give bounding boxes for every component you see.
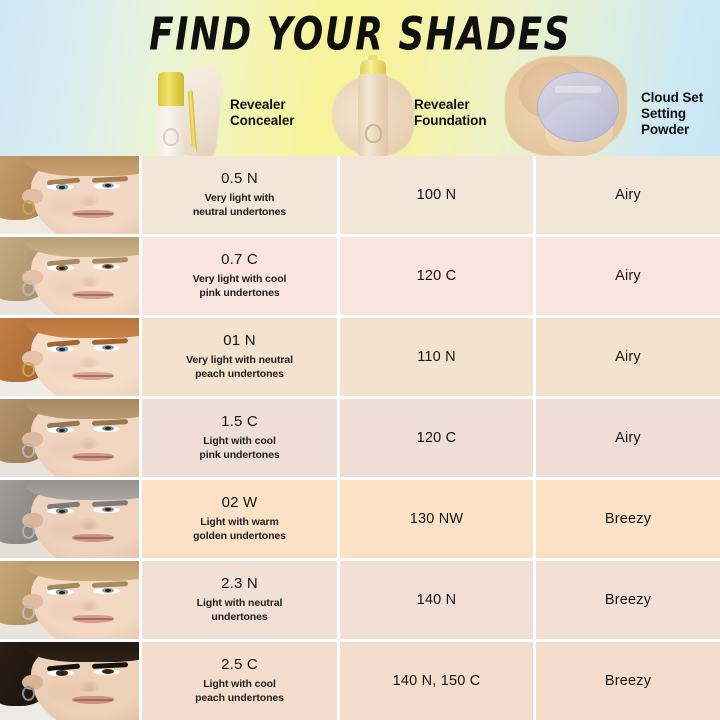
eye-right bbox=[93, 345, 119, 351]
product-label-concealer-line2: Concealer bbox=[230, 113, 294, 129]
foundation-shade-name: 140 N, 150 C bbox=[393, 673, 481, 689]
product-label-foundation-line2: Foundation bbox=[414, 113, 486, 129]
powder-cell: Airy bbox=[536, 237, 720, 315]
concealer-logo-mark bbox=[163, 128, 179, 146]
model-portrait-7 bbox=[0, 642, 142, 720]
iris-right bbox=[102, 588, 114, 593]
foundation-shade-name: 100 N bbox=[417, 187, 457, 203]
concealer-desc-line1: Very light with bbox=[193, 192, 286, 206]
powder-shade-name: Airy bbox=[615, 268, 641, 284]
concealer-desc-line2: neutral undertones bbox=[193, 206, 286, 220]
product-label-foundation: Revealer Foundation bbox=[414, 97, 486, 129]
concealer-desc-line2: pink undertones bbox=[199, 449, 279, 463]
concealer-shade-name: 02 W bbox=[222, 494, 258, 512]
portrait-art bbox=[0, 237, 139, 315]
concealer-cell: 0.7 C Very light with cool pink underton… bbox=[142, 237, 340, 315]
concealer-cell: 02 W Light with warm golden undertones bbox=[142, 480, 340, 558]
iris-left bbox=[56, 346, 68, 351]
product-label-concealer: Revealer Concealer bbox=[230, 97, 294, 129]
iris-left bbox=[56, 265, 68, 270]
iris-right bbox=[102, 264, 114, 269]
eye-right bbox=[93, 669, 119, 675]
concealer-desc-line1: Light with warm bbox=[193, 516, 286, 530]
table-row: 0.5 N Very light with neutral undertones… bbox=[0, 156, 720, 237]
pupil-right bbox=[105, 508, 111, 511]
concealer-shade-description: Light with neutral undertones bbox=[197, 597, 283, 624]
powder-cell: Breezy bbox=[536, 480, 720, 558]
lip-line bbox=[74, 375, 113, 377]
iris-right bbox=[102, 426, 114, 431]
foundation-bottle-body bbox=[358, 74, 388, 156]
nose bbox=[78, 436, 100, 448]
powder-cell: Airy bbox=[536, 156, 720, 234]
concealer-desc-line1: Light with neutral bbox=[197, 597, 283, 611]
lip-line bbox=[74, 699, 113, 701]
concealer-desc-line1: Light with cool bbox=[199, 435, 279, 449]
nose bbox=[78, 193, 100, 205]
foundation-bottle-icon bbox=[330, 58, 416, 156]
portrait-art bbox=[0, 561, 139, 639]
lip-line bbox=[74, 456, 113, 458]
model-portrait-6 bbox=[0, 561, 142, 639]
eye-right bbox=[93, 426, 119, 432]
iris-right bbox=[102, 183, 114, 188]
lip-line bbox=[74, 294, 113, 296]
powder-cell: Breezy bbox=[536, 561, 720, 639]
foundation-shade-name: 140 N bbox=[417, 592, 457, 608]
portrait-art bbox=[0, 399, 139, 477]
concealer-desc-line2: peach undertones bbox=[186, 368, 293, 382]
earring bbox=[22, 443, 35, 458]
earring bbox=[22, 362, 35, 377]
product-label-powder: Cloud Set Setting Powder bbox=[641, 90, 703, 139]
pupil-left bbox=[59, 348, 65, 351]
foundation-logo-mark bbox=[365, 124, 382, 143]
eye-right bbox=[93, 588, 119, 594]
product-label-powder-line1: Cloud Set bbox=[641, 90, 703, 106]
pupil-right bbox=[105, 427, 111, 430]
portrait-art bbox=[0, 480, 139, 558]
concealer-desc-line1: Very light with neutral bbox=[186, 354, 293, 368]
pupil-left bbox=[59, 267, 65, 270]
concealer-desc-line1: Light with cool bbox=[195, 678, 284, 692]
iris-right bbox=[102, 507, 114, 512]
model-portrait-4 bbox=[0, 399, 142, 477]
lip-line bbox=[74, 537, 113, 539]
earring bbox=[22, 686, 35, 701]
foundation-cell: 130 NW bbox=[340, 480, 536, 558]
concealer-tube-icon bbox=[150, 62, 230, 156]
pupil-right bbox=[105, 589, 111, 592]
concealer-cell: 01 N Very light with neutral peach under… bbox=[142, 318, 340, 396]
foundation-cell: 120 C bbox=[340, 237, 536, 315]
pupil-left bbox=[59, 510, 65, 513]
concealer-cell: 2.3 N Light with neutral undertones bbox=[142, 561, 340, 639]
concealer-desc-line2: pink undertones bbox=[193, 287, 287, 301]
nose bbox=[78, 598, 100, 610]
concealer-shade-name: 0.7 C bbox=[221, 251, 258, 269]
nose bbox=[78, 355, 100, 367]
foundation-shade-name: 110 N bbox=[417, 349, 456, 365]
concealer-shade-description: Light with warm golden undertones bbox=[193, 516, 286, 543]
iris-left bbox=[56, 184, 68, 189]
powder-shade-name: Airy bbox=[615, 430, 641, 446]
concealer-shade-description: Light with cool peach undertones bbox=[195, 678, 284, 705]
iris-right bbox=[102, 345, 114, 350]
shade-finder-page: FIND YOUR SHADES Revealer Concealer Reve… bbox=[0, 0, 720, 720]
pupil-right bbox=[105, 184, 111, 187]
product-label-powder-line3: Powder bbox=[641, 122, 703, 138]
shade-match-table: 0.5 N Very light with neutral undertones… bbox=[0, 156, 720, 720]
concealer-shade-description: Very light with neutral peach undertones bbox=[186, 354, 293, 381]
lip-line bbox=[74, 213, 113, 215]
product-label-concealer-line1: Revealer bbox=[230, 97, 294, 113]
powder-lid bbox=[537, 72, 619, 142]
pupil-left bbox=[59, 186, 65, 189]
eye-right bbox=[93, 183, 119, 189]
concealer-desc-line2: undertones bbox=[197, 611, 283, 625]
table-row: 2.3 N Light with neutral undertones 140 … bbox=[0, 561, 720, 642]
powder-shade-name: Airy bbox=[615, 349, 641, 365]
concealer-cell: 0.5 N Very light with neutral undertones bbox=[142, 156, 340, 234]
pupil-right bbox=[105, 670, 111, 673]
foundation-cell: 110 N bbox=[340, 318, 536, 396]
portrait-art bbox=[0, 642, 139, 720]
powder-cell: Airy bbox=[536, 318, 720, 396]
powder-brand-mark bbox=[555, 86, 601, 93]
earring bbox=[22, 200, 35, 215]
foundation-cell: 120 C bbox=[340, 399, 536, 477]
concealer-shade-name: 2.5 C bbox=[221, 656, 258, 674]
table-row: 02 W Light with warm golden undertones 1… bbox=[0, 480, 720, 561]
iris-right bbox=[102, 669, 114, 674]
concealer-cell: 2.5 C Light with cool peach undertones bbox=[142, 642, 340, 720]
foundation-cell: 100 N bbox=[340, 156, 536, 234]
concealer-desc-line2: peach undertones bbox=[195, 692, 284, 706]
product-label-foundation-line1: Revealer bbox=[414, 97, 486, 113]
foundation-shade-name: 120 C bbox=[417, 430, 457, 446]
powder-shade-name: Breezy bbox=[605, 511, 651, 527]
model-portrait-3 bbox=[0, 318, 142, 396]
foundation-cell: 140 N bbox=[340, 561, 536, 639]
concealer-shade-name: 1.5 C bbox=[221, 413, 258, 431]
foundation-cell: 140 N, 150 C bbox=[340, 642, 536, 720]
product-label-powder-line2: Setting bbox=[641, 106, 703, 122]
concealer-shade-name: 0.5 N bbox=[221, 170, 258, 188]
iris-left bbox=[56, 427, 68, 432]
concealer-shade-description: Very light with cool pink undertones bbox=[193, 273, 287, 300]
powder-cell: Breezy bbox=[536, 642, 720, 720]
model-portrait-5 bbox=[0, 480, 142, 558]
earring bbox=[22, 605, 35, 620]
earring bbox=[22, 524, 35, 539]
lip-line bbox=[74, 618, 113, 620]
header-banner: FIND YOUR SHADES Revealer Concealer Reve… bbox=[0, 0, 720, 156]
model-portrait-2 bbox=[0, 237, 142, 315]
pupil-left bbox=[59, 672, 65, 675]
pupil-right bbox=[105, 265, 111, 268]
iris-left bbox=[56, 589, 68, 594]
page-title: FIND YOUR SHADES bbox=[11, 8, 709, 60]
earring bbox=[22, 281, 35, 296]
table-row: 1.5 C Light with cool pink undertones 12… bbox=[0, 399, 720, 480]
foundation-shade-name: 120 C bbox=[417, 268, 457, 284]
concealer-desc-line1: Very light with cool bbox=[193, 273, 287, 287]
concealer-shade-name: 01 N bbox=[223, 332, 256, 350]
foundation-shade-name: 130 NW bbox=[410, 511, 464, 527]
eye-right bbox=[93, 264, 119, 270]
concealer-cell: 1.5 C Light with cool pink undertones bbox=[142, 399, 340, 477]
nose bbox=[78, 679, 100, 691]
concealer-tube-cap bbox=[158, 72, 184, 106]
powder-compact-icon bbox=[505, 56, 635, 156]
table-row: 0.7 C Very light with cool pink underton… bbox=[0, 237, 720, 318]
powder-shade-name: Breezy bbox=[605, 673, 651, 689]
iris-left bbox=[56, 508, 68, 513]
powder-shade-name: Airy bbox=[615, 187, 641, 203]
model-portrait-1 bbox=[0, 156, 142, 234]
concealer-shade-name: 2.3 N bbox=[221, 575, 258, 593]
table-row: 2.5 C Light with cool peach undertones 1… bbox=[0, 642, 720, 720]
portrait-art bbox=[0, 156, 139, 234]
pupil-left bbox=[59, 591, 65, 594]
pupil-right bbox=[105, 346, 111, 349]
powder-shade-name: Breezy bbox=[605, 592, 651, 608]
concealer-shade-description: Very light with neutral undertones bbox=[193, 192, 286, 219]
iris-left bbox=[56, 670, 68, 675]
powder-cell: Airy bbox=[536, 399, 720, 477]
eye-right bbox=[93, 507, 119, 513]
pupil-left bbox=[59, 429, 65, 432]
nose bbox=[78, 274, 100, 286]
concealer-shade-description: Light with cool pink undertones bbox=[199, 435, 279, 462]
table-row: 01 N Very light with neutral peach under… bbox=[0, 318, 720, 399]
nose bbox=[78, 517, 100, 529]
concealer-desc-line2: golden undertones bbox=[193, 530, 286, 544]
portrait-art bbox=[0, 318, 139, 396]
